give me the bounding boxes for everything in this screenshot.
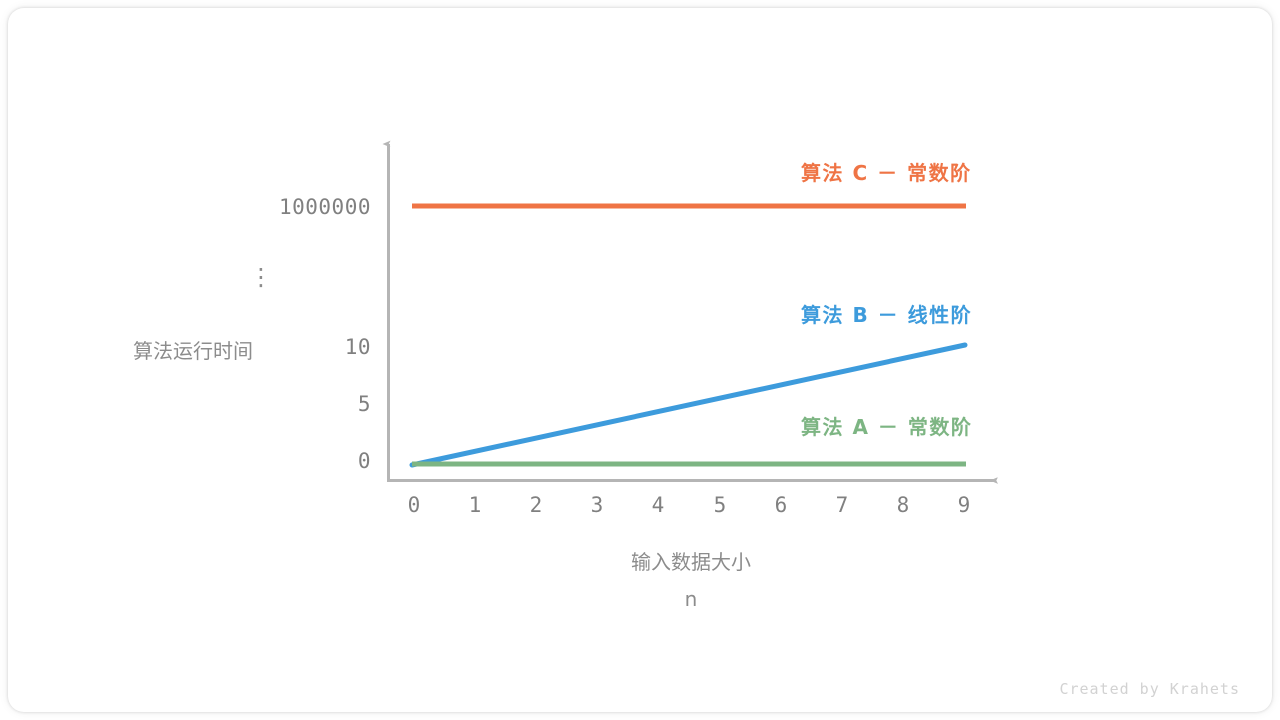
x-tick-6: 6 — [751, 493, 811, 517]
series-label-c: 算法 C － 常数阶 — [801, 157, 972, 186]
x-axis-title-variable: n — [591, 582, 791, 617]
series-line-b — [412, 345, 965, 465]
y-tick-0: 0 — [151, 449, 371, 473]
x-tick-1: 1 — [445, 493, 505, 517]
y-axis-title: 算法运行时间 — [133, 335, 253, 364]
y-tick-5: 5 — [151, 392, 371, 416]
x-tick-4: 4 — [628, 493, 688, 517]
x-tick-2: 2 — [506, 493, 566, 517]
x-tick-7: 7 — [812, 493, 872, 517]
x-tick-3: 3 — [567, 493, 627, 517]
x-tick-9: 9 — [934, 493, 994, 517]
x-tick-5: 5 — [690, 493, 750, 517]
plot-area: 1000000 ⋮ 10 5 0 0 1 2 3 4 5 6 7 8 9 算法运… — [0, 0, 1280, 720]
x-axis-title: 输入数据大小 — [591, 545, 791, 580]
series-label-b: 算法 B － 线性阶 — [801, 299, 972, 328]
chart-canvas: 1000000 ⋮ 10 5 0 0 1 2 3 4 5 6 7 8 9 算法运… — [0, 0, 1280, 720]
series-label-a: 算法 A － 常数阶 — [801, 411, 972, 440]
y-tick-1000000: 1000000 — [151, 195, 371, 219]
y-axis-break-icon: ⋮ — [151, 265, 371, 289]
x-tick-0: 0 — [384, 493, 444, 517]
watermark-credit: Created by Krahets — [1059, 680, 1240, 698]
x-tick-8: 8 — [873, 493, 933, 517]
